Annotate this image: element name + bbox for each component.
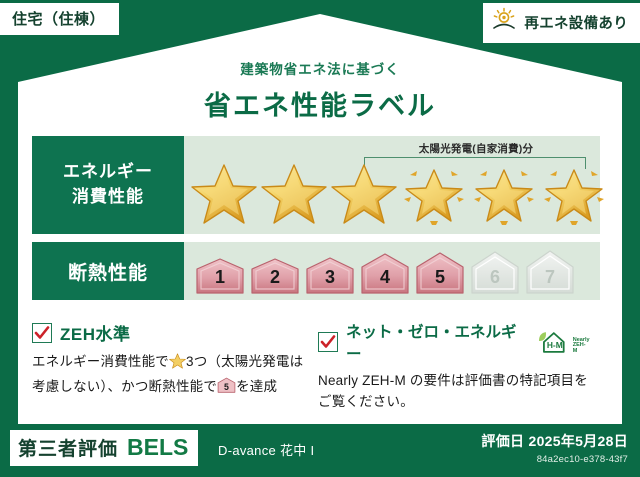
insulation-level-7: 7 (524, 247, 576, 295)
page-title: 省エネ性能ラベル (0, 84, 640, 123)
net-zero-energy-head: ネット・ゼロ・エネルギー H-M Nearly ZEH-M (318, 320, 590, 364)
dwelling-type-label: 住宅（住棟） (12, 11, 105, 28)
insulation-level-6: 6 (469, 248, 521, 295)
insulation-level-4: 4 (359, 250, 411, 295)
star-icon (169, 352, 186, 376)
header-subtitle: 建築物省エネ法に基づく (0, 58, 640, 78)
sun-icon (491, 7, 517, 38)
net-zero-energy-checkbox[interactable] (318, 332, 338, 352)
energy-performance-label: 住宅（住棟） 再エネ設備あり 建築物省エネ法に基づく 省エネ性能ラベル (0, 0, 640, 477)
insulation-level-5-number: 5 (414, 267, 466, 288)
insulation-performance-row: 断熱性能 (32, 242, 600, 300)
insulation-level-7-number: 7 (524, 267, 576, 288)
dwelling-type-tag: 住宅（住棟） (0, 3, 119, 35)
zeh-standard-body-part3: を達成 (236, 379, 277, 394)
insulation-level-6-number: 6 (469, 267, 521, 288)
energy-performance-body: 太陽光発電(自家消費)分 (184, 136, 608, 234)
evaluation-date: 評価日 2025年5月28日 (481, 431, 628, 451)
insulation-level-1-number: 1 (194, 267, 246, 288)
zeh-standard-note: ZEH水準 エネルギー消費性能で3つ（太陽光発電は考慮しない）、かつ断熱性能で5… (32, 320, 318, 413)
svg-text:5: 5 (224, 382, 229, 392)
zeh-standard-body-part1: エネルギー消費性能で (32, 354, 169, 369)
star-solar-2 (470, 159, 538, 225)
renewable-equipment-tag: 再エネ設備あり (483, 3, 640, 43)
solar-generation-note: 太陽光発電(自家消費)分 (362, 141, 590, 156)
label-footer: 第三者評価 BELS D-avance 花中 I 評価日 2025年5月28日 … (0, 424, 640, 477)
label-header: 建築物省エネ法に基づく 省エネ性能ラベル (0, 58, 640, 123)
star-solar-1 (400, 159, 468, 225)
insulation-level-2-number: 2 (249, 267, 301, 288)
insulation-level-3-number: 3 (304, 267, 356, 288)
insulation-level-4-number: 4 (359, 267, 411, 288)
insulation-caption-label: 断熱性能 (68, 258, 148, 285)
insulation-level-5: 5 (414, 249, 466, 295)
nearly-zeh-m-caption-2: ZEH-M (573, 343, 590, 355)
insulation-level-3: 3 (304, 254, 356, 295)
insulation-performance-caption: 断熱性能 (32, 242, 184, 300)
zeh-standard-head: ZEH水準 (32, 320, 304, 345)
insulation-badge-5-icon: 5 (217, 376, 236, 401)
bels-certification-box: 第三者評価 BELS (10, 430, 198, 466)
nearly-zeh-m-logo: H-M Nearly ZEH-M (537, 329, 590, 355)
zeh-standard-title: ZEH水準 (60, 320, 131, 345)
bels-logo: BELS (127, 434, 188, 461)
svg-text:H-M: H-M (547, 340, 563, 350)
rating-rows: エネルギー 消費性能 太陽光発電(自家消費)分 (32, 136, 600, 308)
third-party-evaluation-label: 第三者評価 (18, 434, 118, 461)
zeh-standard-body: エネルギー消費性能で3つ（太陽光発電は考慮しない）、かつ断熱性能で5を達成 (32, 352, 304, 401)
evaluation-id: 84a2ec10-e378-43f7 (481, 454, 628, 465)
insulation-level-2: 2 (249, 255, 301, 295)
building-name: D-avance 花中 I (218, 440, 314, 459)
zeh-standard-checkbox[interactable] (32, 323, 52, 343)
energy-performance-caption: エネルギー 消費性能 (32, 136, 184, 234)
net-zero-energy-note: ネット・ゼロ・エネルギー H-M Nearly ZEH-M Nearly ZEH… (318, 320, 604, 413)
certification-notes: ZEH水準 エネルギー消費性能で3つ（太陽光発電は考慮しない）、かつ断熱性能で5… (32, 320, 604, 413)
star-filled-3 (330, 159, 398, 225)
renewable-equipment-label: 再エネ設備あり (524, 12, 628, 33)
insulation-performance-body: 1 2 3 (184, 242, 600, 300)
star-filled-2 (260, 159, 328, 225)
net-zero-energy-body: Nearly ZEH-M の要件は評価書の特記項目をご覧ください。 (318, 371, 590, 413)
net-zero-energy-title: ネット・ゼロ・エネルギー (346, 320, 526, 364)
star-filled-1 (190, 159, 258, 225)
energy-caption-line2: 消費性能 (72, 185, 144, 210)
energy-caption-line1: エネルギー (63, 160, 153, 185)
evaluation-info: 評価日 2025年5月28日 84a2ec10-e378-43f7 (481, 431, 628, 465)
star-solar-3 (540, 159, 608, 225)
insulation-level-1: 1 (194, 255, 246, 295)
energy-performance-row: エネルギー 消費性能 太陽光発電(自家消費)分 (32, 136, 600, 234)
insulation-level-scale: 1 2 3 (184, 247, 576, 295)
